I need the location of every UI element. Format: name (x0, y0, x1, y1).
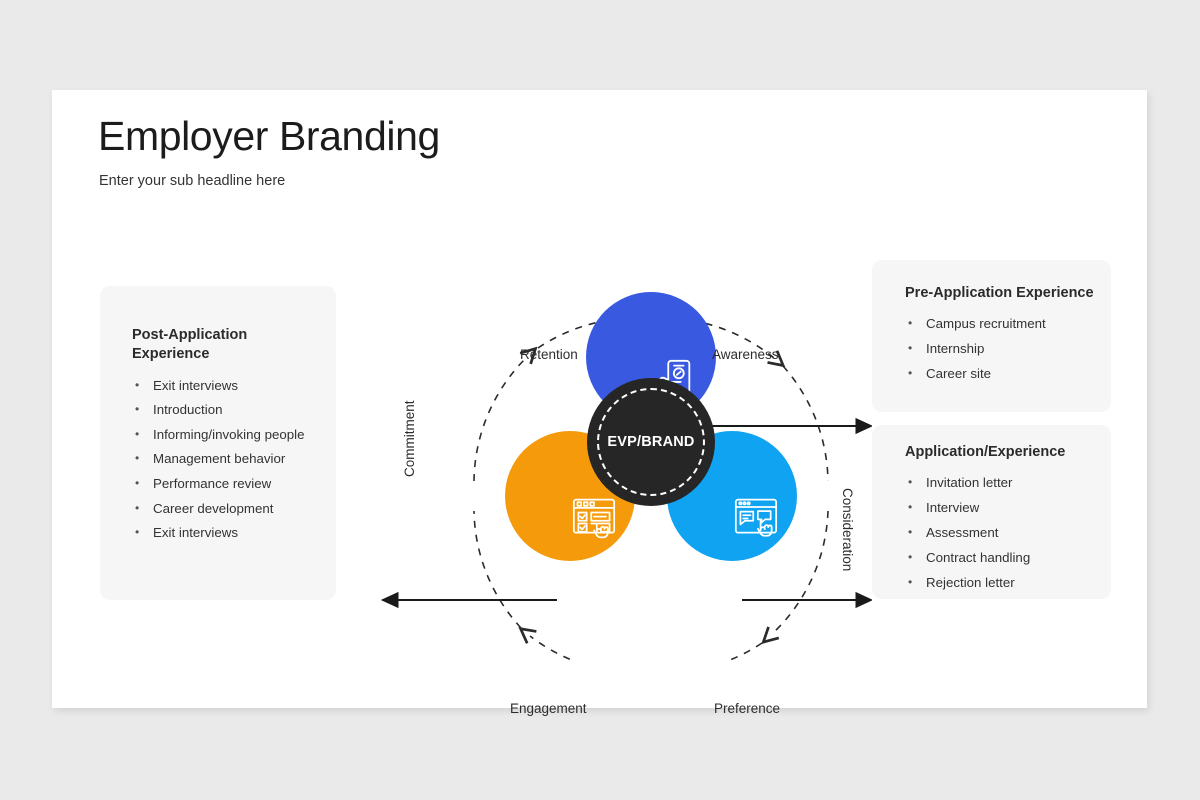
panel-application-experience-title: Application/Experience (905, 443, 1097, 462)
panel-application-experience[interactable]: Application/Experience Invitation letter… (872, 425, 1111, 599)
employer-branding-cycle-diagram: EVP/BRAND Retention Awareness Engagement… (342, 200, 872, 660)
list-item: Campus recruitment (905, 312, 1097, 337)
panel-pre-application[interactable]: Pre-Application Experience Campus recrui… (872, 260, 1111, 412)
list-item: Career site (905, 362, 1097, 387)
slide-canvas: Employer Branding Enter your sub headlin… (52, 90, 1147, 708)
panel-pre-application-title: Pre-Application Experience (905, 284, 1097, 303)
stage-label-awareness: Awareness (712, 347, 779, 362)
page-title: Employer Branding (98, 113, 440, 160)
list-item: Rejection letter (905, 571, 1097, 596)
list-item: Informing/invoking people (132, 423, 318, 448)
stage-label-commitment: Commitment (402, 400, 417, 477)
panel-post-application-title: Post-Application Experience (132, 326, 318, 365)
list-item: Internship (905, 337, 1097, 362)
stage-label-consideration: Consideration (840, 488, 855, 571)
panel-post-application-list: Exit interviews Introduction Informing/i… (132, 374, 318, 546)
list-item: Performance review (132, 472, 318, 497)
stage-label-preference: Preference (714, 701, 780, 716)
arc-engagement-to-commitment (530, 636, 638, 660)
node-evp-brand-core[interactable]: EVP/BRAND (587, 378, 715, 506)
panel-application-experience-list: Invitation letter Interview Assessment C… (905, 471, 1097, 595)
list-item: Contract handling (905, 546, 1097, 571)
list-item: Introduction (132, 398, 318, 423)
list-item: Assessment (905, 521, 1097, 546)
stage-label-retention: Retention (520, 347, 578, 362)
evp-brand-label: EVP/BRAND (607, 434, 694, 450)
panel-post-application[interactable]: Post-Application Experience Exit intervi… (100, 286, 336, 600)
list-item: Career development (132, 497, 318, 522)
list-item: Interview (905, 496, 1097, 521)
list-item: Management behavior (132, 447, 318, 472)
arc-consideration-span (783, 366, 828, 481)
page-subtitle: Enter your sub headline here (99, 173, 285, 189)
arc-preference-to-engagement (662, 643, 762, 660)
list-item: Exit interviews (132, 374, 318, 399)
stage-label-engagement: Engagement (510, 701, 587, 716)
list-item: Exit interviews (132, 521, 318, 546)
list-item: Invitation letter (905, 471, 1097, 496)
panel-pre-application-list: Campus recruitment Internship Career sit… (905, 312, 1097, 387)
